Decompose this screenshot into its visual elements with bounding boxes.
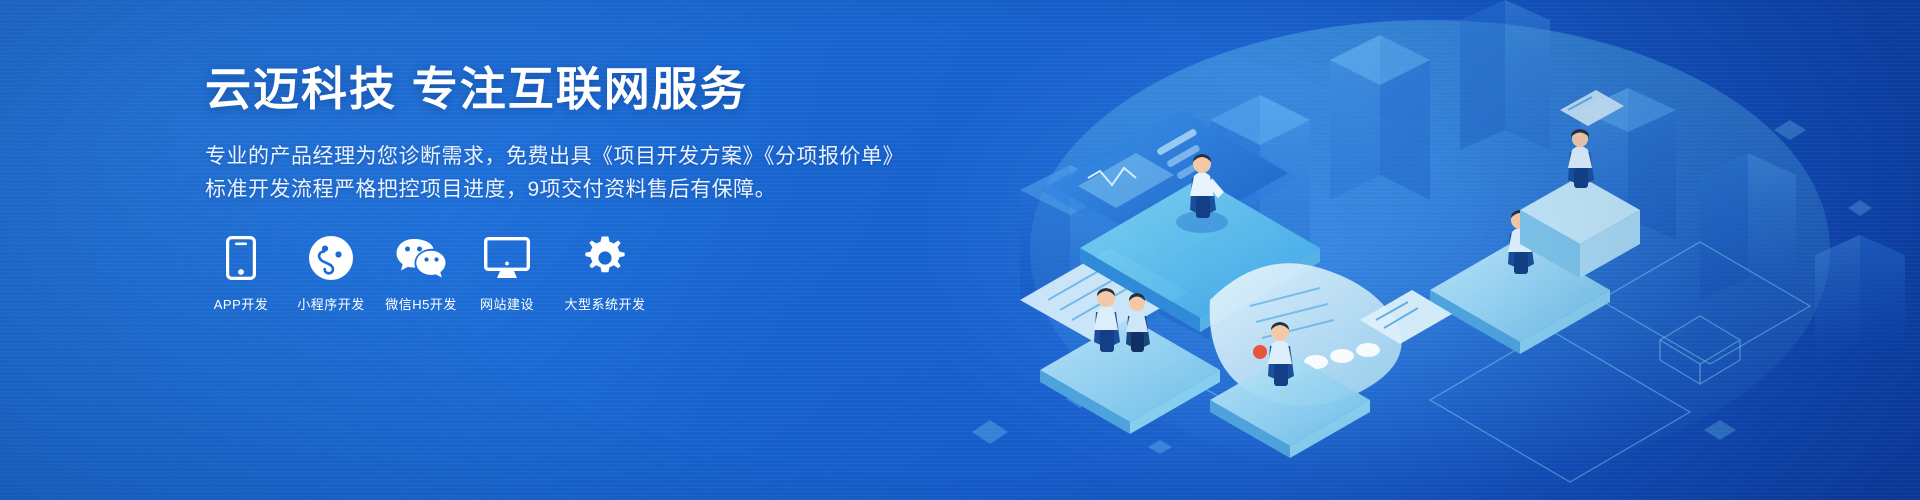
service-label-wechat-h5: 微信H5开发 xyxy=(385,294,457,313)
service-label-large-system: 大型系统开发 xyxy=(564,294,645,313)
service-item-large-system[interactable]: 大型系统开发 xyxy=(557,232,653,313)
service-item-wechat-h5[interactable]: 微信H5开发 xyxy=(385,232,457,313)
mobile-phone-icon xyxy=(226,232,256,284)
service-item-website[interactable]: 网站建设 xyxy=(475,232,539,313)
service-label-website: 网站建设 xyxy=(480,294,534,313)
service-list: APP开发 小程序开发 xyxy=(205,232,653,313)
banner-headline: 云迈科技 专注互联网服务 xyxy=(205,64,1085,116)
service-item-app[interactable]: APP开发 xyxy=(205,232,277,313)
service-label-app: APP开发 xyxy=(214,294,269,313)
service-item-mini-program[interactable]: 小程序开发 xyxy=(295,232,367,313)
gear-icon xyxy=(583,232,627,284)
service-label-mini-program: 小程序开发 xyxy=(297,294,365,313)
subtitle-line-1: 专业的产品经理为您诊断需求，免费出具《项目开发方案》《分项报价单》 xyxy=(205,140,1085,173)
banner-subtitle: 专业的产品经理为您诊断需求，免费出具《项目开发方案》《分项报价单》 标准开发流程… xyxy=(205,140,1085,206)
wechat-icon xyxy=(395,232,447,284)
subtitle-line-2: 标准开发流程严格把控项目进度，9项交付资料售后有保障。 xyxy=(205,173,1085,206)
mini-program-icon xyxy=(309,232,353,284)
isometric-illustration xyxy=(960,0,1920,500)
banner-copy: 云迈科技 专注互联网服务 专业的产品经理为您诊断需求，免费出具《项目开发方案》《… xyxy=(205,64,1085,206)
monitor-icon xyxy=(484,232,530,284)
hero-banner: 云迈科技 专注互联网服务 专业的产品经理为您诊断需求，免费出具《项目开发方案》《… xyxy=(0,0,1920,500)
